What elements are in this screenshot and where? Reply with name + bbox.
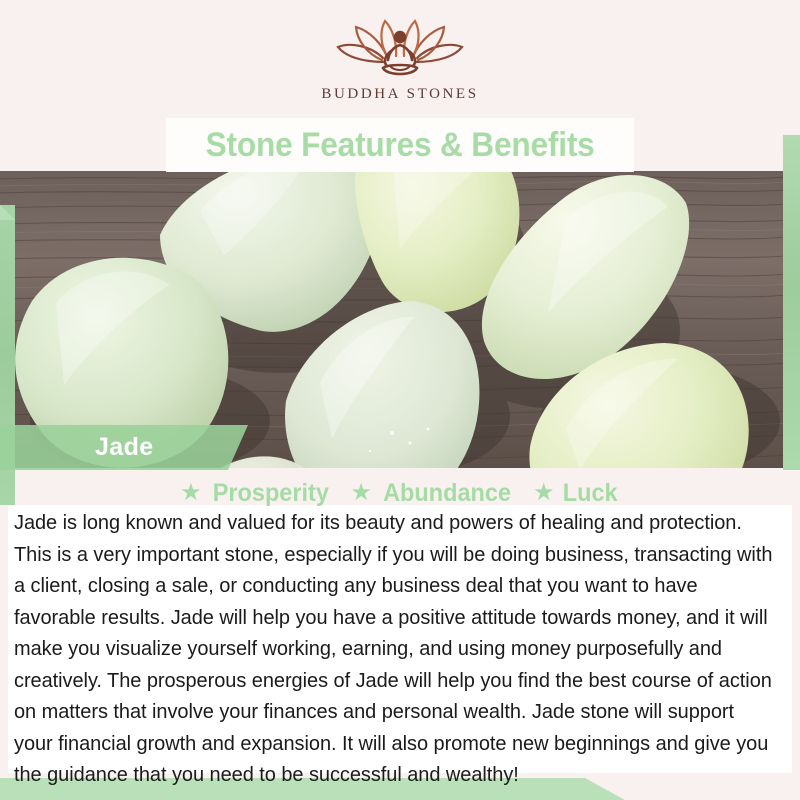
stone-name-badge: Jade — [0, 425, 260, 470]
brand-wordmark: BUDDHA STONES — [321, 86, 478, 103]
benefit-label: Prosperity — [212, 481, 328, 506]
stone-description: Jade is long known and valued for its be… — [14, 508, 774, 792]
benefits-row: ★ Prosperity ★ Abundance ★ Luck — [0, 478, 800, 508]
decor-right-green-bar — [783, 135, 800, 470]
benefit-label: Abundance — [383, 481, 511, 506]
benefit-prosperity: ★ Prosperity — [180, 481, 332, 506]
star-icon: ★ — [180, 481, 202, 505]
benefit-abundance: ★ Abundance — [350, 481, 515, 506]
page-title: Stone Features & Benefits — [206, 128, 595, 162]
stone-feature-card: BUDDHA STONES — [0, 0, 800, 800]
star-icon: ★ — [533, 481, 555, 505]
benefit-label: Luck — [563, 481, 618, 506]
stone-name-label: Jade — [95, 433, 154, 462]
stone-photo — [0, 171, 786, 468]
stone-photo-graphic — [0, 171, 786, 468]
star-icon: ★ — [350, 481, 372, 505]
benefit-luck: ★ Luck — [533, 481, 620, 506]
brand-header: BUDDHA STONES — [0, 0, 800, 118]
lotus-meditation-icon — [325, 16, 475, 82]
page-title-band: Stone Features & Benefits — [166, 118, 634, 172]
